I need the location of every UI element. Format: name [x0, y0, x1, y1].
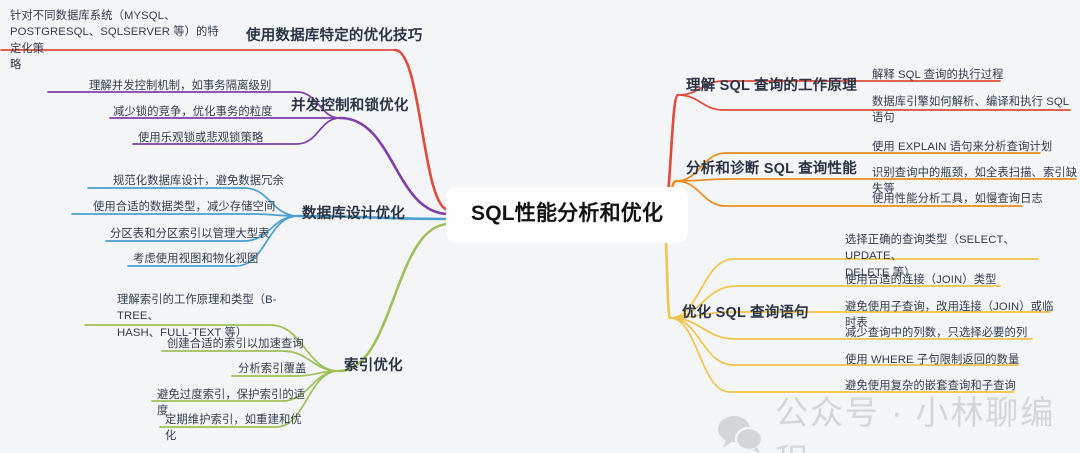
leaf-concurrency-1[interactable]: 减少锁的竞争，优化事务的粒度	[113, 104, 278, 120]
leaf-analyze-2[interactable]: 使用性能分析工具，如慢查询日志	[872, 191, 1072, 207]
branch-title-concurrency-lock[interactable]: 并发控制和锁优化	[291, 96, 409, 117]
leaf-db-design-0[interactable]: 规范化数据库设计，避免数据冗余	[113, 173, 288, 189]
leaf-db-design-1[interactable]: 使用合适的数据类型，减少存储空间	[93, 199, 288, 215]
leaf-index-2[interactable]: 分析索引覆盖	[238, 361, 313, 377]
leaf-db-design-3[interactable]: 考虑使用视图和物化视图	[133, 251, 288, 267]
leaf-concurrency-0[interactable]: 理解并发控制机制，如事务隔离级别	[89, 78, 274, 94]
branch-title-db-specific[interactable]: 使用数据库特定的优化技巧	[246, 26, 422, 47]
branch-title-optimize-sql[interactable]: 优化 SQL 查询语句	[682, 303, 809, 324]
leaf-optimize-3[interactable]: 减少查询中的列数，只选择必要的列	[845, 325, 1045, 341]
leaf-analyze-0[interactable]: 使用 EXPLAIN 语句来分析查询计划	[872, 139, 1078, 155]
leaf-optimize-5[interactable]: 避免使用复杂的嵌套查询和子查询	[845, 378, 1041, 394]
branch-title-analyze-diagnose[interactable]: 分析和诊断 SQL 查询性能	[686, 159, 857, 180]
leaf-understand-sql-1[interactable]: 数据库引擎如何解析、编译和执行 SQL 语句	[872, 94, 1078, 127]
branch-title-understand-sql[interactable]: 理解 SQL 查询的工作原理	[686, 76, 857, 97]
mindmap-canvas: SQL性能分析和优化 使用数据库特定的优化技巧 针对不同数据库系统（MYSQL、…	[0, 0, 1080, 453]
leaf-index-1[interactable]: 创建合适的索引以加速查询	[167, 336, 312, 352]
leaf-db-specific-0[interactable]: 针对不同数据库系统（MYSQL、 POSTGRESQL、SQLSERVER 等）…	[10, 8, 220, 74]
leaf-index-4[interactable]: 定期维护索引，如重建和优化	[165, 412, 313, 445]
leaf-understand-sql-0[interactable]: 解释 SQL 查询的执行过程	[872, 67, 1072, 83]
leaf-optimize-1[interactable]: 使用合适的连接（JOIN）类型	[845, 272, 1041, 288]
leaf-optimize-4[interactable]: 使用 WHERE 子句限制返回的数量	[845, 352, 1041, 368]
wechat-icon	[717, 415, 763, 453]
watermark-text: 公众号 · 小林聊编程	[775, 386, 1080, 453]
branch-title-index-optimization[interactable]: 索引优化	[344, 356, 403, 377]
root-node[interactable]: SQL性能分析和优化	[449, 190, 685, 240]
branch-title-db-design[interactable]: 数据库设计优化	[302, 204, 405, 225]
leaf-db-design-2[interactable]: 分区表和分区索引以管理大型表	[110, 226, 290, 242]
leaf-index-0[interactable]: 理解索引的工作原理和类型（B-TREE、 HASH、FULL-TEXT 等）	[117, 292, 307, 341]
watermark: 公众号 · 小林聊编程	[717, 386, 1080, 453]
leaf-concurrency-2[interactable]: 使用乐观锁或悲观锁策略	[138, 130, 283, 146]
